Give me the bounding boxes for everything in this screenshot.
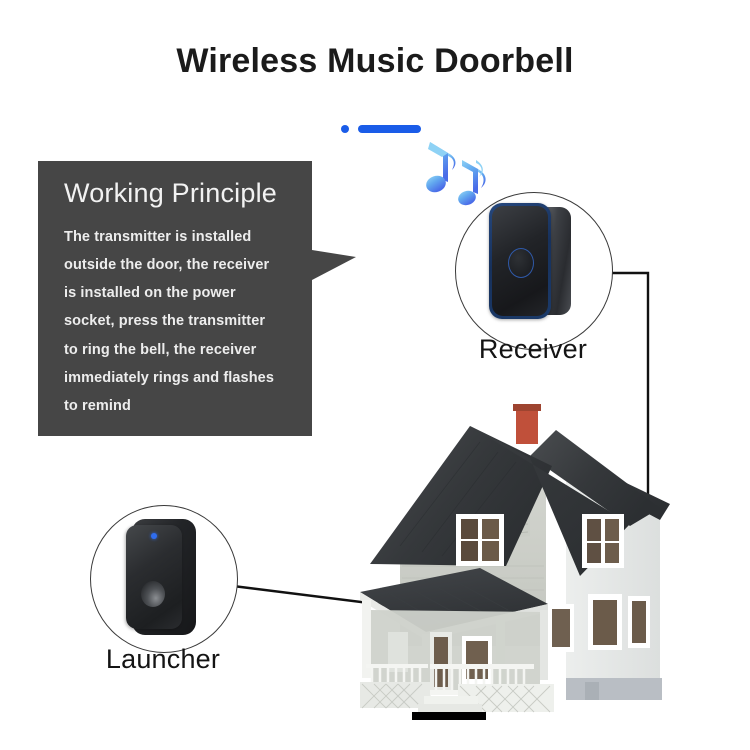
signal-bar [358, 125, 421, 133]
launcher-led-indicator [151, 533, 157, 539]
signal-dot [341, 125, 349, 133]
panel-heading: Working Principle [64, 179, 292, 209]
working-principle-panel: Working Principle The transmitter is ins… [38, 161, 312, 436]
receiver-device [489, 203, 573, 321]
panel-pointer-tail [312, 250, 356, 280]
launcher-label: Launcher [63, 644, 263, 675]
launcher-device [120, 519, 206, 635]
page-title: Wireless Music Doorbell [0, 42, 750, 81]
launcher-button [141, 581, 165, 607]
wireless-signal-dash-icon [341, 123, 421, 135]
launcher-front-plate [126, 525, 182, 629]
house-photo [330, 396, 730, 726]
music-notes-icon [418, 136, 494, 214]
receiver-button [508, 248, 534, 278]
receiver-label: Receiver [433, 334, 633, 365]
infographic-canvas: Wireless Music Doorbell Working Principl… [0, 0, 750, 750]
panel-body-text: The transmitter is installed outside the… [64, 223, 292, 421]
